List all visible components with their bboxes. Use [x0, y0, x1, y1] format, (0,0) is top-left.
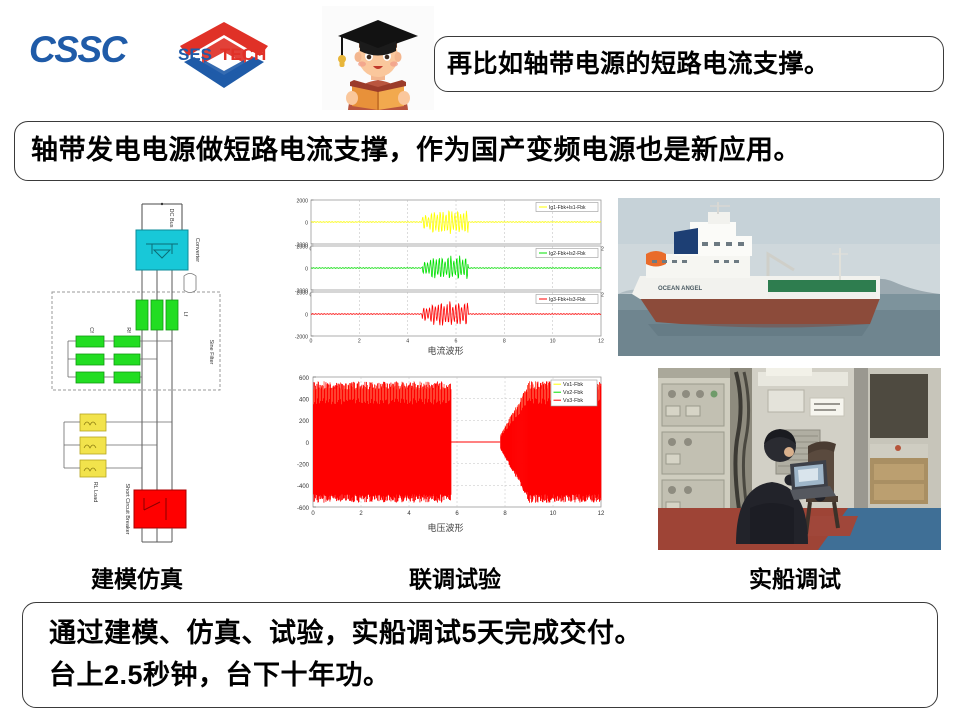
current-waveform-chart: -200002000024681012Ig1-Fbk+Is1-Fbk-20000…: [283, 196, 608, 362]
footer-line-2: 台上2.5秒钟，台下十年功。: [49, 655, 642, 697]
svg-text:0: 0: [311, 511, 315, 517]
rl-load-blocks: [80, 414, 106, 477]
svg-text:-2000: -2000: [295, 335, 308, 341]
svg-text:6: 6: [455, 511, 459, 517]
cssc-logo: CSSC: [27, 26, 155, 70]
legend-label: Vs1-Fbk: [563, 382, 583, 388]
svg-text:-600: -600: [297, 506, 310, 512]
subtitle-callout: 轴带发电电源做短路电流支撑，作为国产变频电源也是新应用。: [14, 121, 944, 181]
student-avatar-icon: [322, 6, 434, 110]
caption-modeling: 建模仿真: [22, 560, 252, 594]
svg-text:400: 400: [299, 397, 310, 403]
svg-text:2000: 2000: [296, 199, 308, 205]
svg-text:8: 8: [503, 511, 507, 517]
footer-line-1: 通过建模、仿真、试验，实船调试5天完成交付。: [49, 613, 642, 655]
header-text: 再比如轴带电源的短路电流支撑。: [447, 47, 830, 82]
legend-label: Ig2-Fbk+Is2-Fbk: [549, 251, 586, 257]
legend-label: Ig1-Fbk+Is1-Fbk: [549, 205, 586, 211]
rf-resistors: [114, 336, 140, 383]
legend-label: Vs3-Fbk: [563, 398, 583, 404]
cf-label: Cf: [88, 327, 94, 333]
commissioning-photo: [658, 368, 941, 550]
rf-label: Rf: [125, 327, 131, 333]
short-circuit-breaker-block: [134, 490, 186, 528]
current-subplot-2: -200002000024681012Ig2-Fbk+Is2-Fbk: [295, 245, 604, 299]
ship-name-text: OCEAN ANGEL: [658, 286, 702, 292]
legend-label: Ig3-Fbk+Is3-Fbk: [549, 297, 586, 303]
circuit-diagram: Sine Filter DC Bus Converter: [24, 192, 276, 548]
svg-text:0: 0: [305, 313, 308, 319]
cssc-wordmark: CSSC: [29, 29, 129, 70]
footer-callout: 通过建模、仿真、试验，实船调试5天完成交付。 台上2.5秒钟，台下十年功。: [22, 602, 938, 708]
lf-inductors: [136, 300, 178, 330]
caption-joint-test: 联调试验: [340, 560, 570, 594]
svg-text:2000: 2000: [296, 291, 308, 297]
sestech-logo: SES TECH: [172, 16, 276, 94]
caption-ship-commissioning: 实船调试: [680, 560, 910, 594]
sine-filter-label: Sine Filter: [208, 340, 214, 365]
svg-text:12: 12: [598, 511, 605, 517]
current-subplot-1: -200002000024681012Ig1-Fbk+Is1-Fbk: [295, 199, 604, 253]
svg-text:0: 0: [305, 267, 308, 273]
cf-capacitors: [76, 336, 104, 383]
ship-photo: OCEAN ANGEL: [618, 198, 940, 356]
voltage-chart-caption: 电压波形: [283, 521, 608, 534]
breaker-label: Short Circuit Breaker: [124, 483, 130, 534]
svg-text:-400: -400: [297, 484, 310, 490]
subtitle-text: 轴带发电电源做短路电流支撑，作为国产变频电源也是新应用。: [31, 132, 801, 169]
svg-text:0: 0: [306, 441, 310, 447]
header-callout: 再比如轴带电源的短路电流支撑。: [434, 36, 944, 92]
svg-text:200: 200: [299, 419, 310, 425]
lf-label: Lf: [182, 312, 188, 317]
slide-root: CSSC SES TECH: [0, 0, 960, 720]
svg-text:2: 2: [359, 511, 363, 517]
sestech-word-ses: SES: [178, 45, 212, 64]
svg-text:2000: 2000: [296, 245, 308, 251]
converter-label: Converter: [194, 238, 200, 262]
current-subplot-3: -200002000024681012Ig3-Fbk+Is3-Fbk: [295, 291, 604, 345]
rl-load-label: RL Load: [92, 482, 98, 503]
svg-text:0: 0: [305, 221, 308, 227]
svg-text:600: 600: [299, 376, 310, 382]
sestech-word-tech: TECH: [220, 45, 266, 64]
svg-text:4: 4: [407, 511, 411, 517]
dc-bus-label: DC Bus: [168, 209, 174, 228]
current-chart-caption: 电流波形: [283, 344, 608, 357]
voltage-plot: -600-400-2000200400600024681012Vs1-FbkVs…: [297, 376, 605, 517]
legend-label: Vs2-Fbk: [563, 390, 583, 396]
voltage-waveform-chart: -600-400-2000200400600024681012Vs1-FbkVs…: [283, 371, 608, 539]
svg-text:-200: -200: [297, 462, 310, 468]
svg-text:10: 10: [550, 511, 557, 517]
